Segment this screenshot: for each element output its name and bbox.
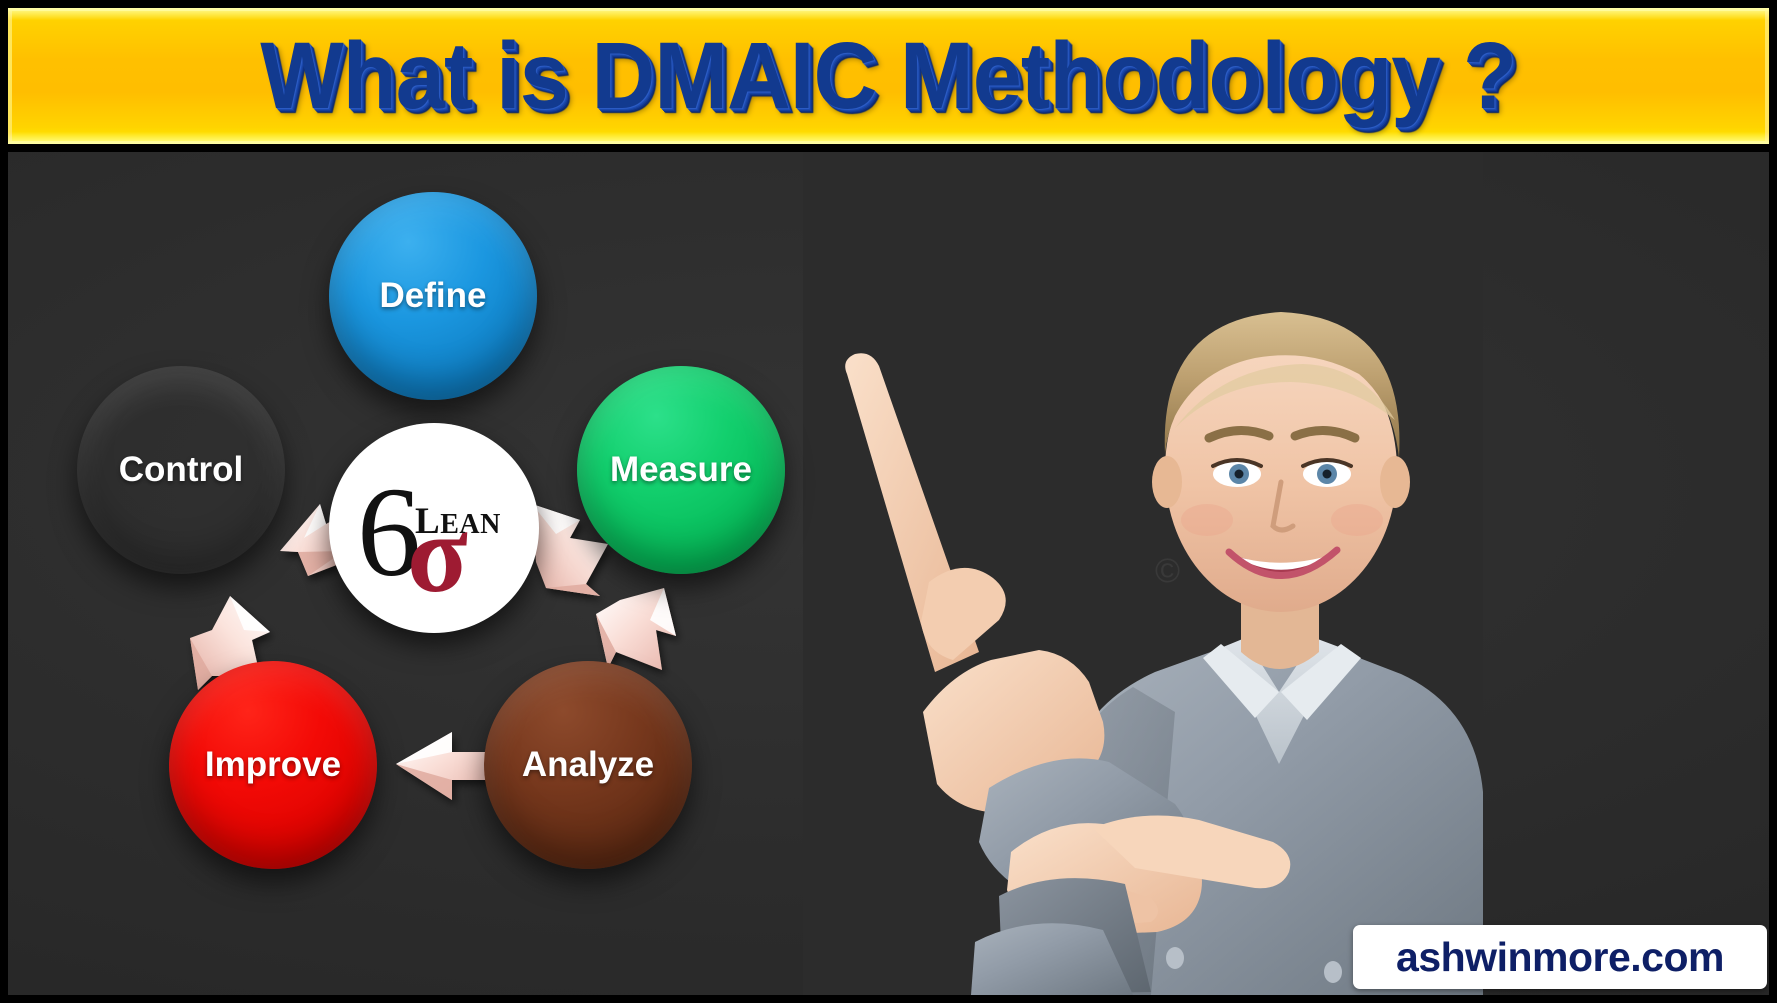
dmaic-step-analyze[interactable]: Analyze bbox=[484, 661, 692, 869]
dmaic-step-define[interactable]: Define bbox=[329, 192, 537, 400]
dmaic-step-measure[interactable]: Measure bbox=[577, 366, 785, 574]
page-title: What is DMAIC Methodology ? bbox=[261, 22, 1517, 131]
lean-six-sigma-mark: 6 σ LEAN bbox=[329, 423, 539, 633]
step-label-control: Control bbox=[119, 450, 243, 490]
step-label-measure: Measure bbox=[610, 450, 752, 490]
step-label-define: Define bbox=[380, 276, 487, 316]
title-banner: What is DMAIC Methodology ? bbox=[8, 8, 1769, 144]
site-watermark-badge[interactable]: ashwinmore.com bbox=[1353, 925, 1767, 989]
poster-canvas: What is DMAIC Methodology ? bbox=[0, 0, 1777, 1003]
dmaic-step-improve[interactable]: Improve bbox=[169, 661, 377, 869]
watermark-text: ashwinmore.com bbox=[1396, 934, 1724, 981]
dmaic-step-control[interactable]: Control bbox=[77, 366, 285, 574]
arrow-analyze-to-improve bbox=[396, 732, 490, 800]
svg-text:©: © bbox=[1155, 552, 1180, 590]
arrow-measure-to-analyze bbox=[596, 588, 676, 670]
lean-six-sigma-logo: 6 σ LEAN bbox=[329, 423, 539, 633]
step-label-analyze: Analyze bbox=[522, 745, 654, 785]
content-panel: © bbox=[8, 152, 1769, 995]
step-label-improve: Improve bbox=[205, 745, 341, 785]
